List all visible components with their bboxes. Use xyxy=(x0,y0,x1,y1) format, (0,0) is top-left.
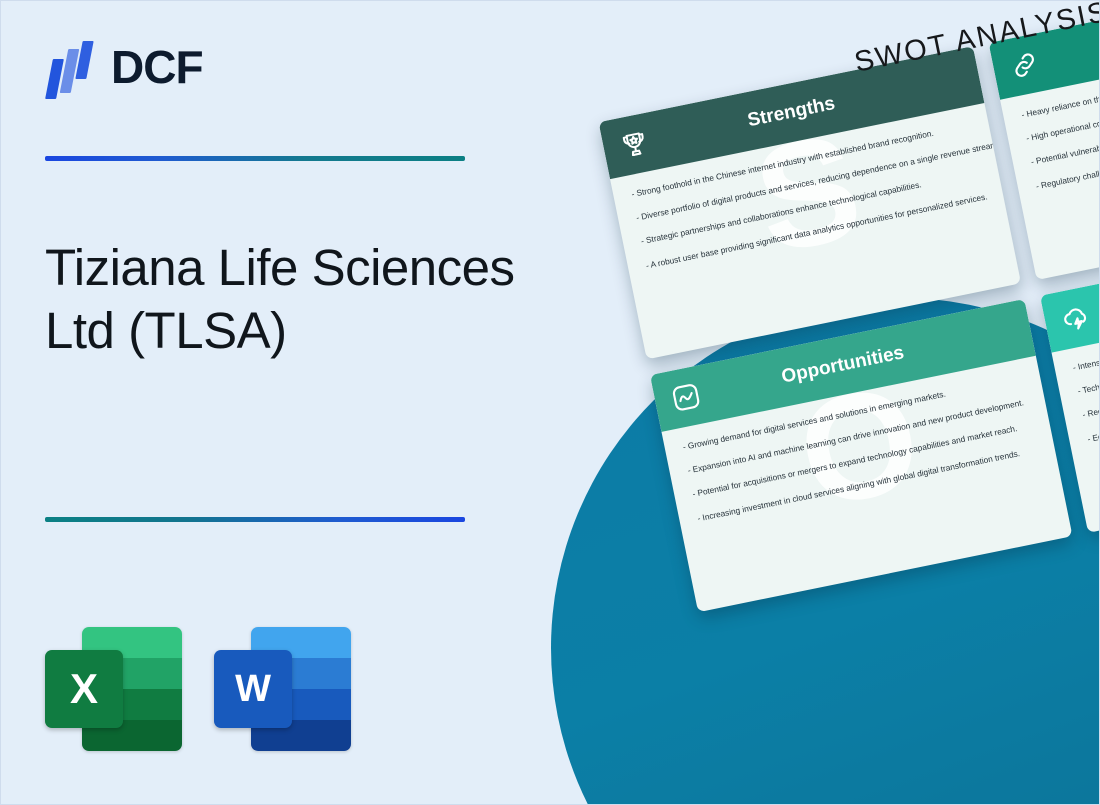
excel-badge-letter: X xyxy=(45,650,123,728)
divider-bottom xyxy=(45,517,465,522)
left-panel: DCF Tiziana Life Sciences Ltd (TLSA) X W xyxy=(1,1,561,805)
swot-panel: SWOT ANALYSIS Strengths xyxy=(521,1,1100,805)
excel-file-icon[interactable]: X xyxy=(45,623,182,753)
word-file-icon[interactable]: W xyxy=(214,623,351,753)
swot-card-opportunities[interactable]: Opportunities O Growing demand for digit… xyxy=(650,299,1073,612)
divider-top xyxy=(45,156,465,161)
list-item: Economic downturn impacting consumer spe… xyxy=(1086,365,1100,445)
page-title: Tiziana Life Sciences Ltd (TLSA) xyxy=(45,237,515,362)
brand-logo[interactable]: DCF xyxy=(45,39,203,95)
slide-canvas: DCF Tiziana Life Sciences Ltd (TLSA) X W… xyxy=(0,0,1100,805)
document-download-icons: X W xyxy=(45,623,351,753)
word-badge-letter: W xyxy=(214,650,292,728)
brand-name: DCF xyxy=(111,44,203,90)
dcf-bars-logo-icon xyxy=(45,39,97,95)
